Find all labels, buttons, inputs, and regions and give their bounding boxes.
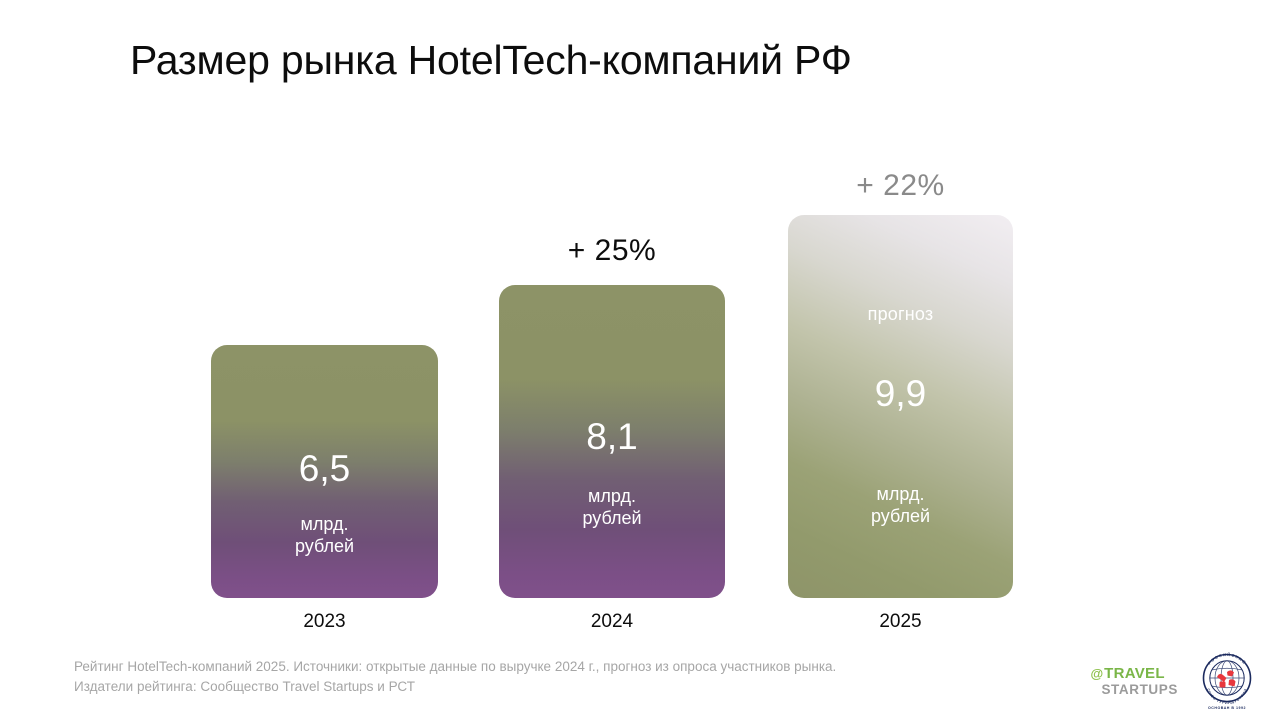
- bar-unit-line2-2025: рублей: [871, 506, 930, 526]
- year-label-2025: 2025: [788, 611, 1013, 633]
- bar-chart: 6,5 млрд. рублей 2023 + 25% 8,1 млрд. ру…: [0, 0, 1280, 650]
- bar-2024[interactable]: 8,1 млрд. рублей: [499, 285, 725, 598]
- at-icon: @: [1090, 667, 1103, 680]
- forecast-note-2025: прогноз: [868, 304, 934, 325]
- logo-row: @ TRAVEL STARTUPS: [1090, 650, 1258, 712]
- growth-label-2024: + 25%: [499, 234, 725, 268]
- bar-unit-2023: млрд. рублей: [295, 514, 354, 558]
- travel-word: TRAVEL: [1104, 666, 1165, 681]
- growth-label-2025: + 22%: [788, 169, 1013, 203]
- startups-word: STARTUPS: [1101, 683, 1178, 697]
- rst-founded-text: ОСНОВАН В 1992: [1208, 706, 1246, 710]
- bar-unit-line2-2024: рублей: [582, 508, 641, 528]
- bar-unit-line1-2025: млрд.: [877, 484, 925, 504]
- rst-ring-text-top: РОССИЙСКИЙ: [1207, 652, 1248, 666]
- bar-value-2025: 9,9: [875, 375, 926, 412]
- bar-2025-forecast[interactable]: прогноз 9,9 млрд. рублей: [788, 215, 1013, 598]
- footer-line-1: Рейтинг HotelTech-компаний 2025. Источни…: [74, 657, 836, 677]
- bar-unit-line2-2023: рублей: [295, 536, 354, 556]
- bar-unit-2024: млрд. рублей: [582, 486, 641, 530]
- rst-emblem-icon: РОССИЙСКИЙ СОЮЗ ТУРИНДУСТРИИ ОСНОВАН В 1…: [1196, 650, 1258, 712]
- bar-unit-line1-2023: млрд.: [301, 514, 349, 534]
- year-label-2023: 2023: [211, 611, 438, 633]
- year-label-2024: 2024: [499, 611, 725, 633]
- svg-text:РОССИЙСКИЙ: РОССИЙСКИЙ: [1207, 652, 1248, 666]
- footer-note: Рейтинг HotelTech-компаний 2025. Источни…: [74, 657, 836, 697]
- rst-ring-text-bottom: СОЮЗ ТУРИНДУСТРИИ: [1206, 688, 1248, 705]
- bar-2023[interactable]: 6,5 млрд. рублей: [211, 345, 438, 598]
- bar-value-2023: 6,5: [299, 450, 350, 487]
- svg-text:СОЮЗ ТУРИНДУСТРИИ: СОЮЗ ТУРИНДУСТРИИ: [1206, 688, 1248, 705]
- footer-line-2: Издатели рейтинга: Сообщество Travel Sta…: [74, 677, 836, 697]
- slide-root: Размер рынка HotelTech-компаний РФ 6,5 м…: [0, 0, 1280, 720]
- travel-startups-logo: @ TRAVEL STARTUPS: [1090, 666, 1178, 697]
- bar-unit-2025: млрд. рублей: [871, 484, 930, 528]
- bar-unit-line1-2024: млрд.: [588, 486, 636, 506]
- bar-value-2024: 8,1: [586, 418, 637, 455]
